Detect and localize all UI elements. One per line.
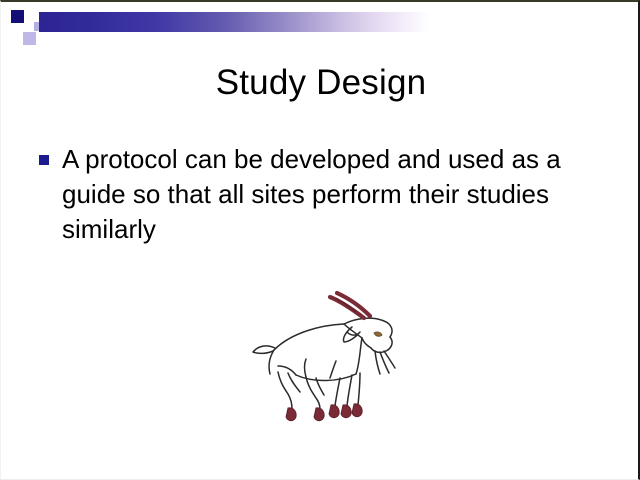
goat-drawing [244, 282, 409, 432]
decor-square-dark [11, 10, 24, 23]
slide-title: Study Design [1, 62, 640, 104]
bullet-item: A protocol can be developed and used as … [39, 142, 609, 247]
goat-illustration [244, 282, 409, 432]
square-bullet-icon [39, 155, 49, 165]
decor-gradient-bar [39, 12, 429, 32]
slide-body: A protocol can be developed and used as … [39, 142, 609, 247]
decor-square-light-b [23, 32, 36, 45]
header-decoration [1, 2, 640, 52]
goat-horns [330, 293, 370, 318]
goat-hooves [286, 404, 362, 421]
slide: Study Design A protocol can be developed… [0, 0, 640, 480]
bullet-item-text: A protocol can be developed and used as … [62, 142, 602, 247]
